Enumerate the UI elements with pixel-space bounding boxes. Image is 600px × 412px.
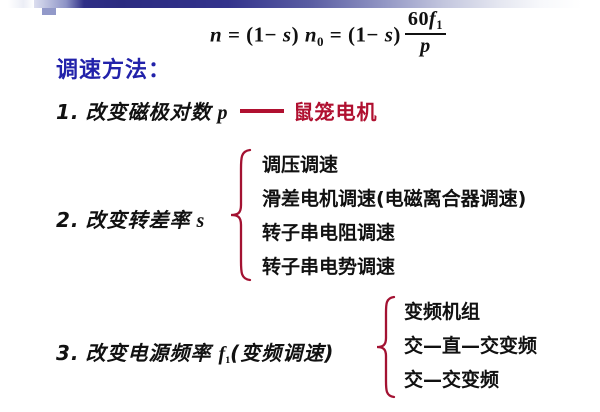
- formula-numerator: 60f1: [405, 9, 446, 35]
- list-item: 转子串电阻调速: [262, 216, 526, 250]
- item-1-number: 1.: [56, 100, 80, 124]
- formula-eq2: =: [324, 23, 348, 47]
- item-3-suffix: (变频调速): [230, 341, 334, 365]
- formula-close1: ): [292, 23, 305, 47]
- list-item-1: 1.改变磁极对数p鼠笼电机: [56, 96, 378, 125]
- formula-open2: (1: [348, 23, 367, 47]
- list-item-3-label: 3.改变电源频率f1(变频调速): [56, 337, 334, 366]
- formula-s1: s: [277, 23, 291, 47]
- formula-num-f-subscript: 1: [436, 18, 443, 32]
- header-bar-notch: [8, 0, 34, 8]
- item-1-label: 改变磁极对数: [86, 100, 212, 124]
- formula-s2: s: [379, 23, 393, 47]
- formula-fraction: 60f1p: [405, 9, 446, 58]
- brace-item-2: [228, 147, 254, 283]
- list-item: 滑差电机调速(电磁离合器调速): [262, 182, 526, 216]
- list-item-2-label: 2.改变转差率s: [56, 204, 204, 233]
- formula-open1: (1: [246, 23, 265, 47]
- list-item: 变频机组: [404, 295, 537, 329]
- header-gradient-bar: [0, 0, 600, 8]
- header-bar-block: [42, 8, 56, 15]
- list-item: 调压调速: [262, 148, 526, 182]
- formula-num-60: 60: [408, 8, 429, 30]
- formula-denominator: p: [405, 35, 446, 57]
- formula-minus2: −: [366, 23, 378, 47]
- item-2-number: 2.: [56, 208, 80, 232]
- formula-n: n: [210, 23, 222, 47]
- item-2-variable: s: [197, 210, 205, 232]
- formula-n0-subscript: 0: [317, 34, 324, 49]
- list-item: 转子串电势调速: [262, 250, 526, 284]
- speed-formula: n = (1− s) n0 = (1− s)60f1p: [210, 9, 446, 58]
- item-3-label: 改变电源频率: [86, 341, 212, 365]
- brace-item-3: [374, 294, 398, 400]
- item-3-number: 3.: [56, 341, 80, 365]
- formula-close2: ): [393, 23, 401, 47]
- formula-eq1: =: [222, 23, 246, 47]
- page-title: 调速方法：: [56, 52, 171, 84]
- item-1-variable: p: [218, 102, 228, 124]
- item-2-children: 调压调速 滑差电机调速(电磁离合器调速) 转子串电阻调速 转子串电势调速: [262, 148, 526, 284]
- list-item: 交—直—交变频: [404, 329, 537, 363]
- list-item: 交—交变频: [404, 363, 537, 397]
- em-dash-connector: [240, 109, 284, 113]
- item-3-children: 变频机组 交—直—交变频 交—交变频: [404, 295, 537, 397]
- item-2-label: 改变转差率: [86, 208, 191, 232]
- formula-n0: n: [305, 23, 317, 47]
- formula-minus1: −: [265, 23, 277, 47]
- item-1-accent-text: 鼠笼电机: [294, 100, 378, 124]
